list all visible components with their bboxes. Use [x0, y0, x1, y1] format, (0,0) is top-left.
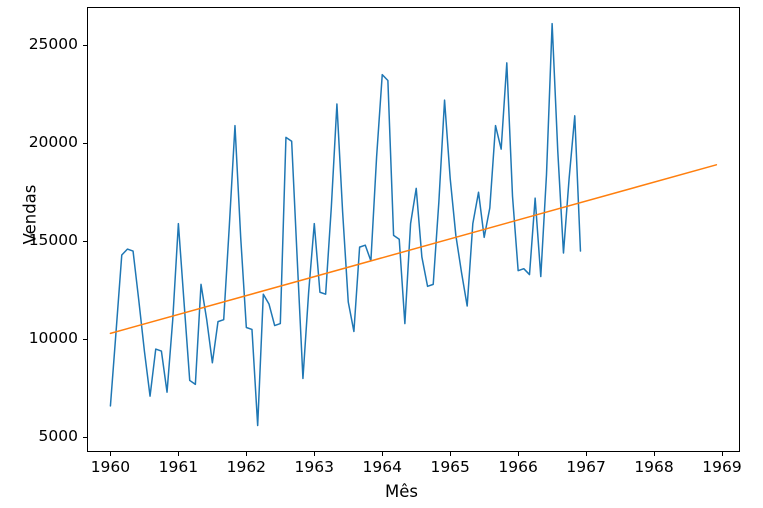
- x-tick-mark: [178, 452, 179, 456]
- x-tick-label: 1965: [420, 460, 480, 476]
- y-tick-label: 5000: [39, 429, 78, 445]
- x-tick-label: 1961: [148, 460, 208, 476]
- y-tick-label: 15000: [29, 233, 78, 249]
- x-axis-label-text: Mês: [385, 482, 418, 501]
- x-tick-mark: [654, 452, 655, 456]
- x-tick-mark: [450, 452, 451, 456]
- plot-svg: [88, 8, 739, 451]
- x-tick-mark: [586, 452, 587, 456]
- x-tick-label: 1960: [80, 460, 140, 476]
- x-axis-label: Mês: [0, 482, 763, 501]
- x-tick-mark: [110, 452, 111, 456]
- x-tick-label: 1967: [556, 460, 616, 476]
- x-tick-label: 1966: [488, 460, 548, 476]
- line-series-tendencia: [110, 165, 716, 334]
- x-tick-label: 1969: [692, 460, 752, 476]
- x-tick-mark: [722, 452, 723, 456]
- x-tick-label: 1962: [216, 460, 276, 476]
- plot-area: [87, 7, 740, 452]
- line-series-vendas: [110, 24, 580, 426]
- y-tick-label: 20000: [29, 135, 78, 151]
- x-tick-label: 1963: [284, 460, 344, 476]
- x-tick-label: 1964: [352, 460, 412, 476]
- x-tick-mark: [382, 452, 383, 456]
- x-tick-label: 1968: [624, 460, 684, 476]
- x-tick-mark: [246, 452, 247, 456]
- x-tick-mark: [314, 452, 315, 456]
- matplotlib-figure: Vendas 500010000150002000025000 19601961…: [0, 0, 763, 508]
- y-tick-label: 25000: [29, 37, 78, 53]
- y-tick-label: 10000: [29, 331, 78, 347]
- x-tick-mark: [518, 452, 519, 456]
